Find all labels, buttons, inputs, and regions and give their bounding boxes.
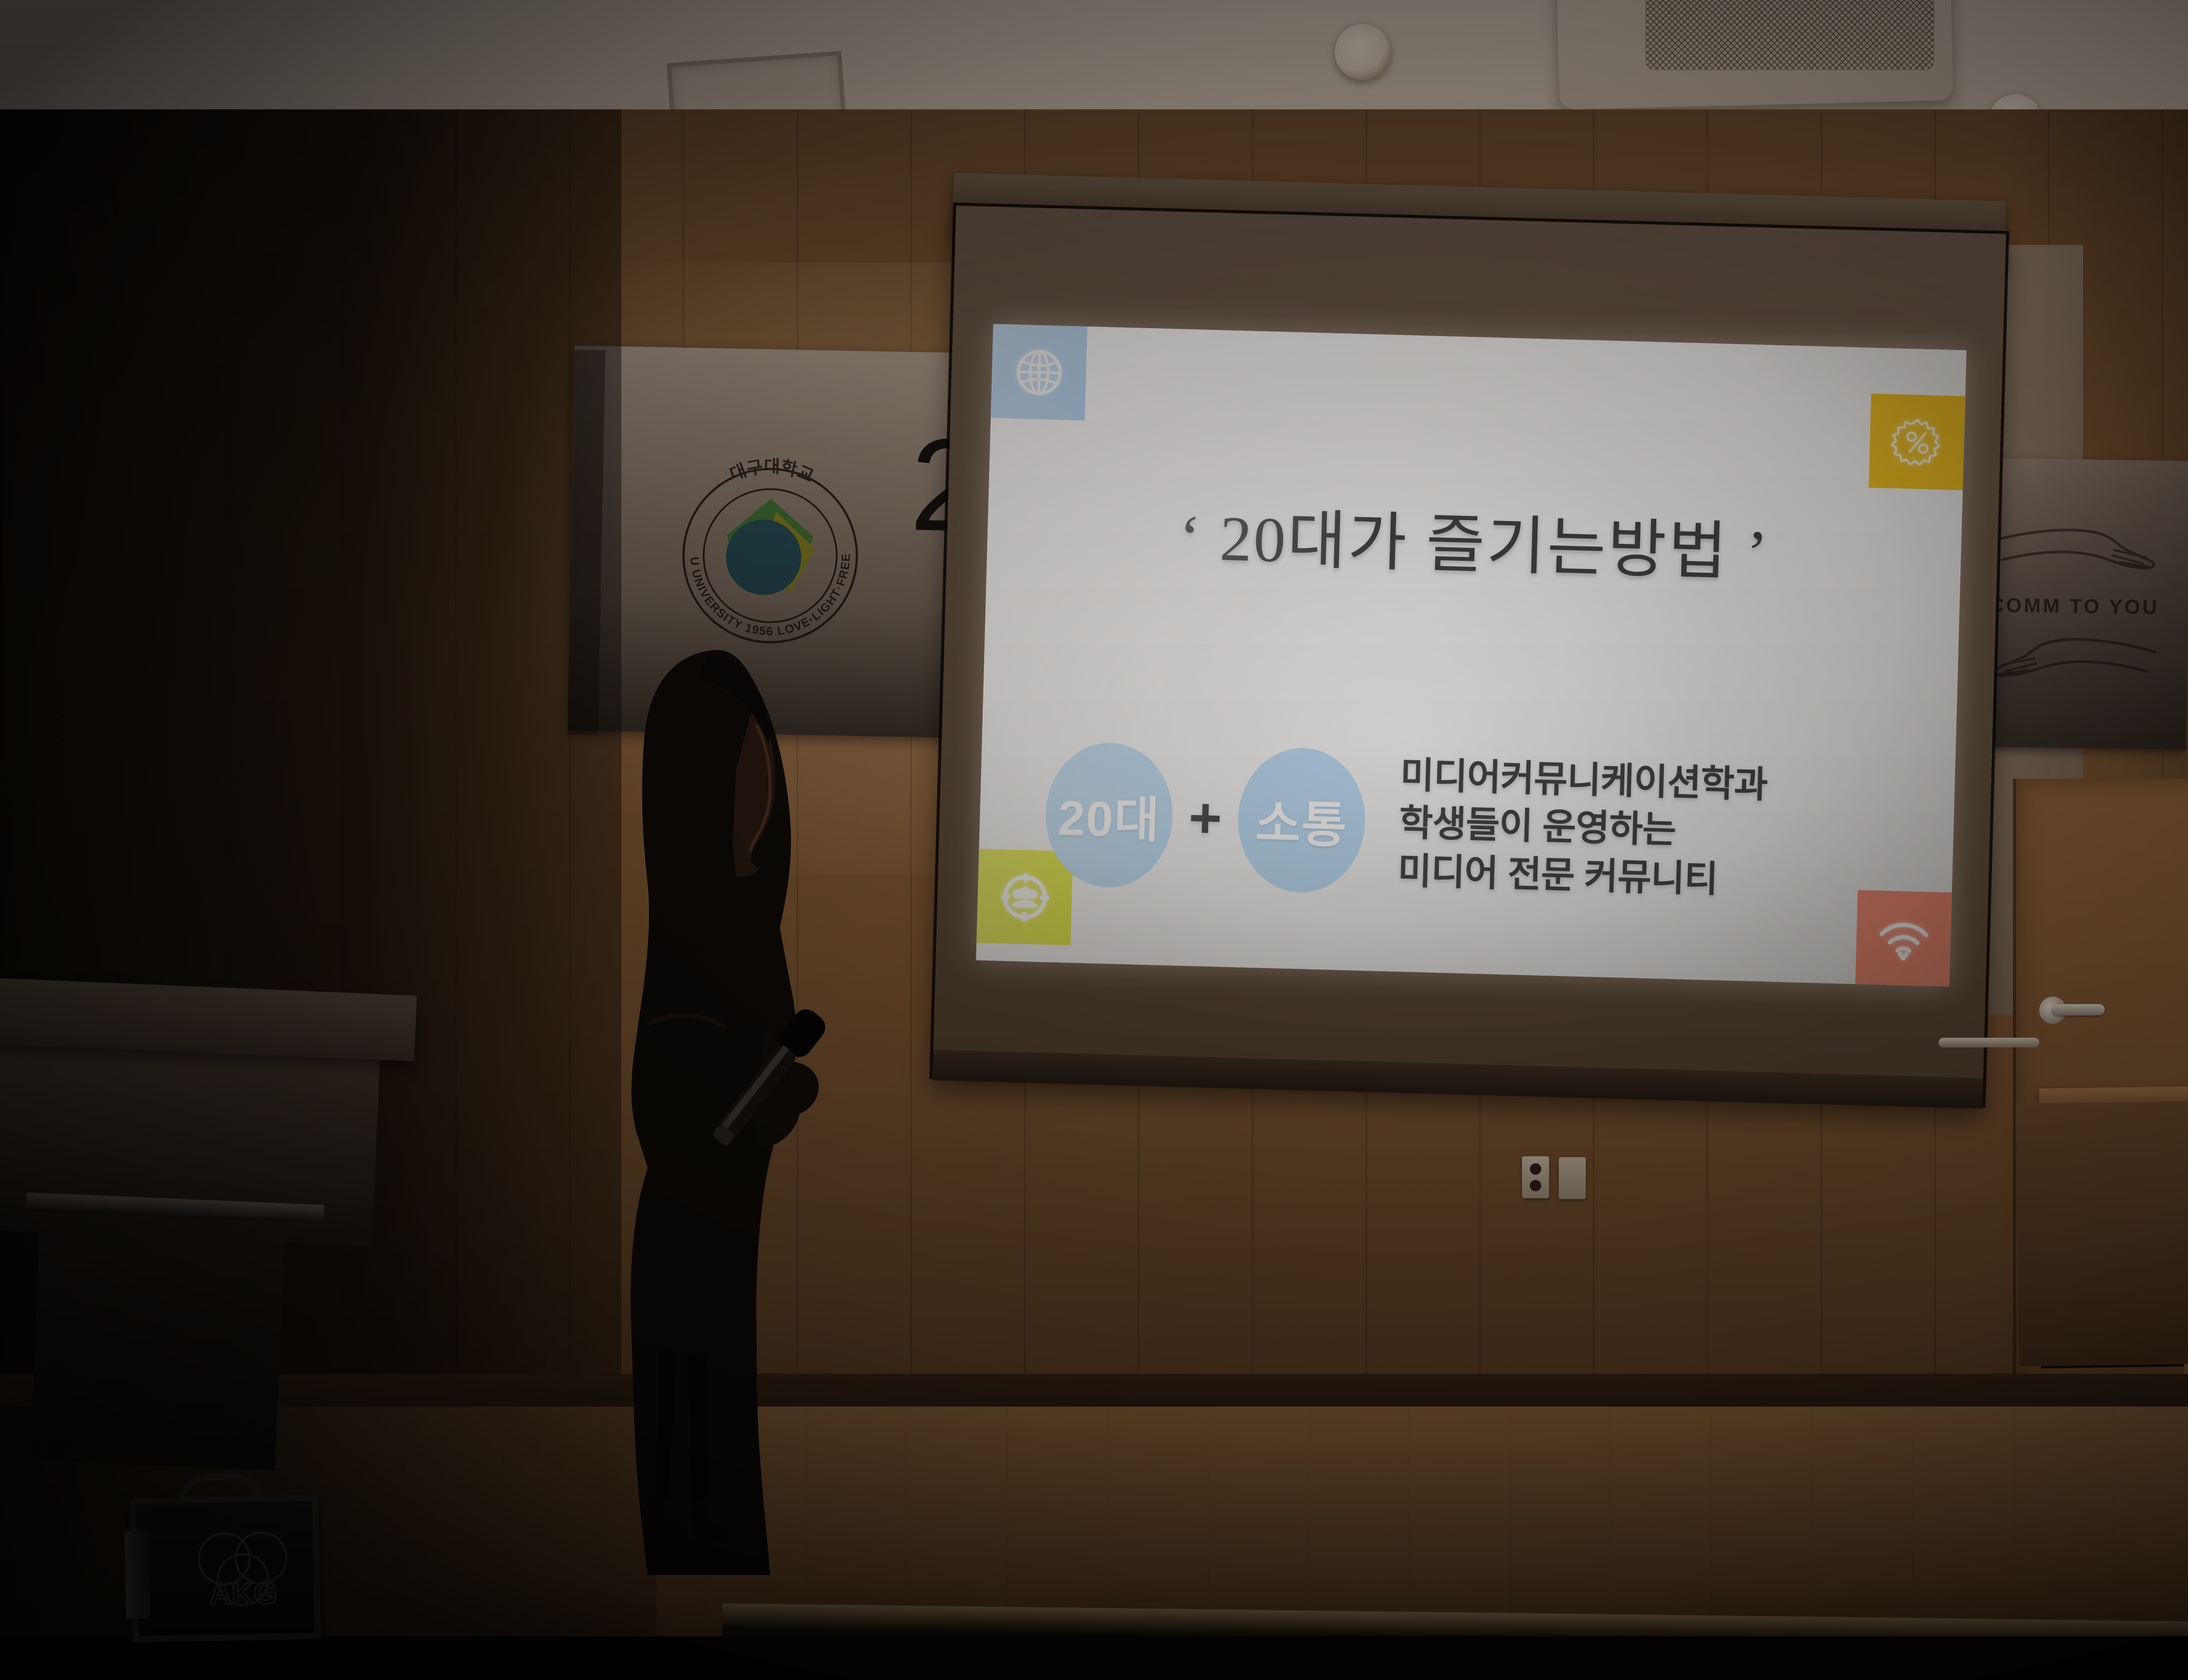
- wall-power-outlet[interactable]: [1522, 1156, 1549, 1198]
- slide-concept-row: 20대 + 소통 미디어커뮤니케이션학과 학생들이 운영하는 미디어 전문 커뮤…: [1043, 710, 1923, 940]
- slide-corner-top-left: [991, 324, 1087, 420]
- plus-sign: +: [1172, 788, 1239, 847]
- floor-front-shadow: [0, 1636, 2188, 1680]
- ceiling-light-1: [1335, 24, 1391, 80]
- percent-badge-icon: [1890, 415, 1944, 469]
- blank-wall-plate: [1559, 1157, 1586, 1199]
- globe-icon: [1012, 345, 1066, 399]
- presenter-silhouette: [582, 639, 897, 1575]
- air-vent-grille: [1645, 0, 1934, 70]
- slide-title: ‘ 20대가 즐기는방법 ’: [987, 499, 1962, 592]
- projection-screen: ‘ 20대가 즐기는방법 ’ 20대 + 소통 미디어커뮤니케이션학과 학생들이…: [933, 206, 2006, 1104]
- door-handle[interactable]: [2052, 1004, 2105, 1015]
- slide-description-line-3: 미디어 전문 커뮤니티: [1397, 847, 1766, 904]
- svg-text:AKG: AKG: [209, 1576, 278, 1611]
- photo-scene: 대구대학교 DAEGU UNIVERSITY 1956 LOVE·LIGHT·F…: [0, 0, 2188, 1680]
- concept-bubble-left: 20대: [1044, 741, 1175, 889]
- lectern-column: [30, 1216, 285, 1471]
- concept-bubble-right: 소통: [1236, 746, 1367, 894]
- slide-corner-top-right: [1869, 394, 1965, 490]
- outlet-socket-top: [1530, 1163, 1541, 1175]
- outlet-socket-bottom: [1530, 1180, 1541, 1191]
- equipment-case-latch: [124, 1531, 150, 1619]
- wall-rail: [1939, 1038, 2039, 1047]
- slide-description: 미디어커뮤니케이션학과 학생들이 운영하는 미디어 전문 커뮤니티: [1397, 751, 1768, 904]
- wooden-side-panel: [2016, 1101, 2188, 1366]
- presentation-slide: ‘ 20대가 즐기는방법 ’ 20대 + 소통 미디어커뮤니케이션학과 학생들이…: [976, 324, 1967, 987]
- akg-logo: AKG: [189, 1517, 296, 1620]
